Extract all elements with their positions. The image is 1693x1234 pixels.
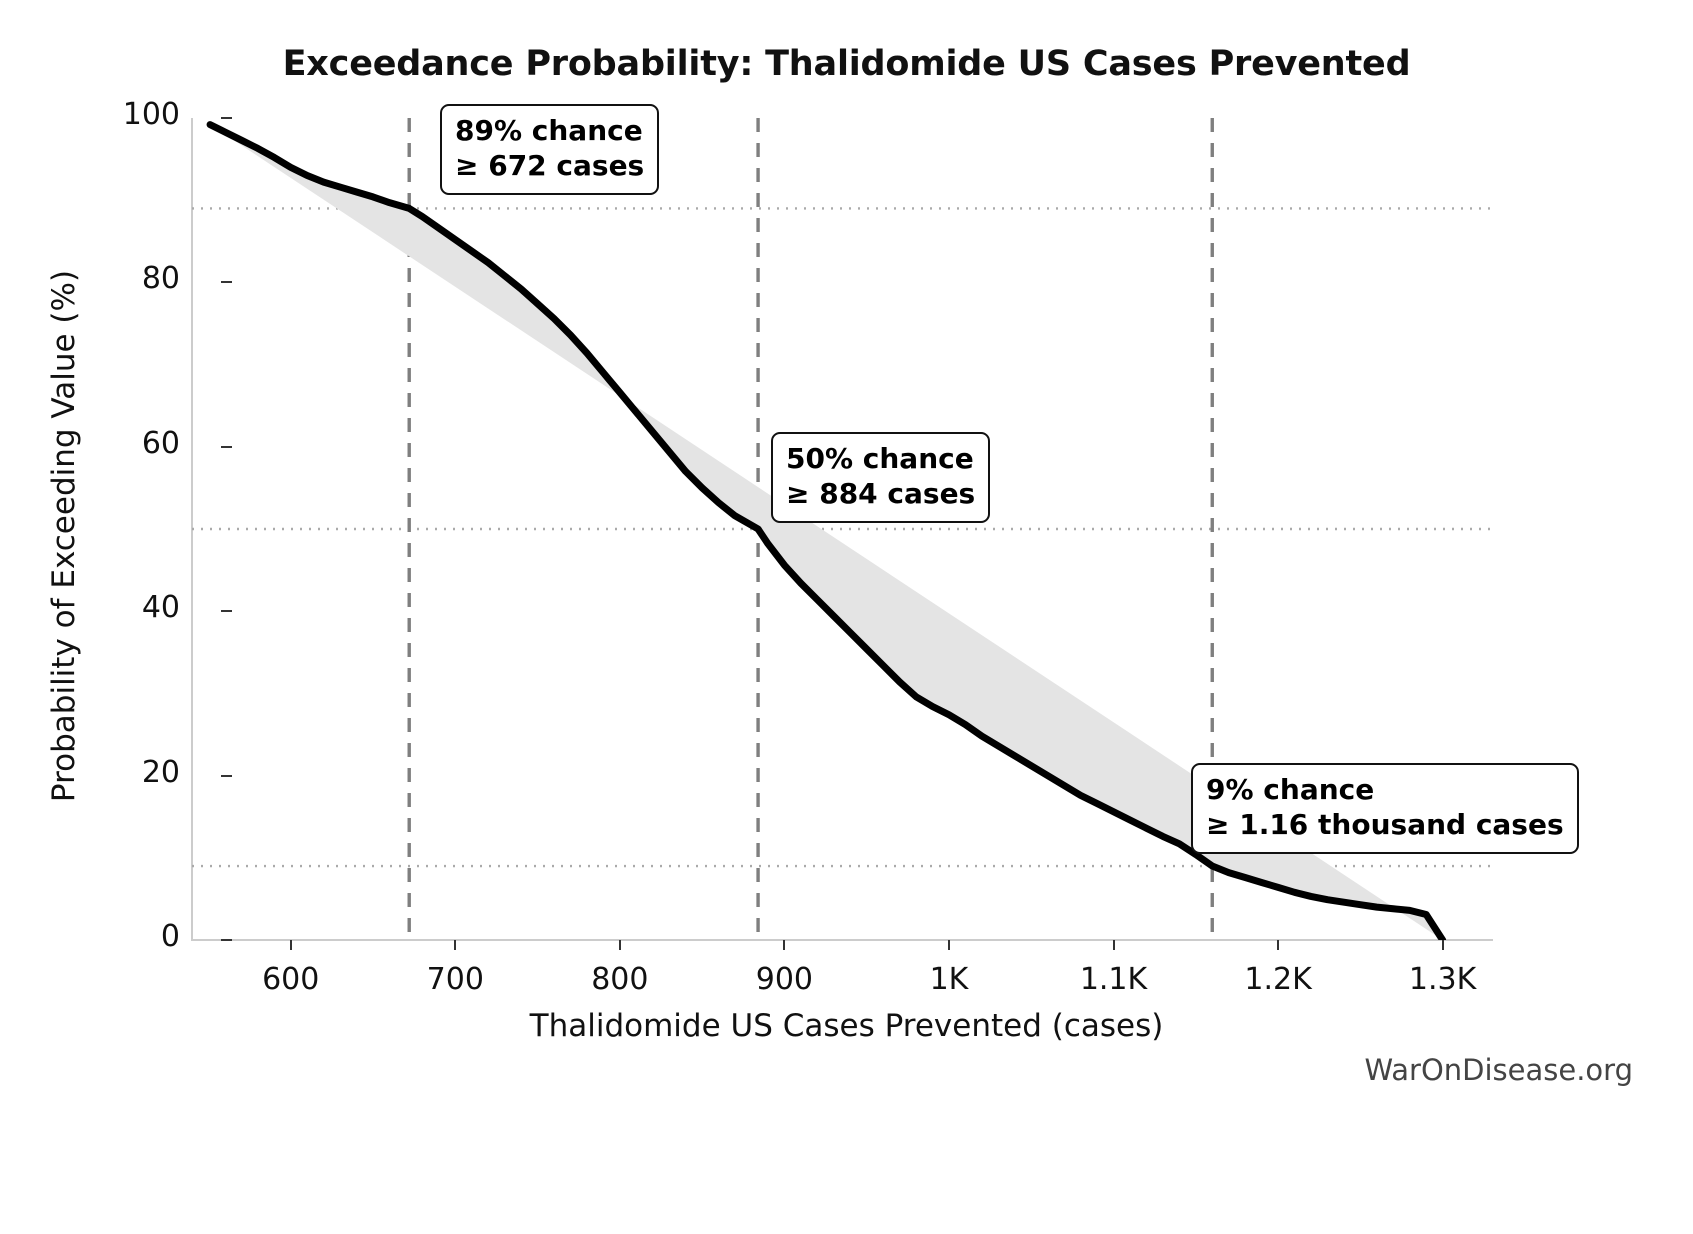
annotation-threshold-text: ≥ 884 cases [786,476,975,511]
x-tick-mark-900 [783,940,785,950]
x-axis-label: Thalidomide US Cases Prevented (cases) [0,1008,1693,1044]
x-tick-label-1.1K: 1.1K [1034,962,1194,997]
x-tick-mark-1.3K [1442,940,1444,950]
x-tick-mark-1.2K [1277,940,1279,950]
chart-page: Exceedance Probability: Thalidomide US C… [0,0,1693,1234]
x-tick-label-600: 600 [211,962,371,997]
y-tick-mark-0 [221,939,232,941]
y-tick-mark-100 [221,117,232,119]
x-tick-mark-600 [290,940,292,950]
annotation-9: 9% chance≥ 1.16 thousand cases [1191,763,1579,854]
x-tick-mark-700 [454,940,456,950]
y-tick-label-0: 0 [60,919,180,954]
x-tick-label-700: 700 [375,962,535,997]
y-tick-mark-20 [221,775,232,777]
x-tick-label-1.3K: 1.3K [1363,962,1523,997]
annotation-probability-text: 9% chance [1206,772,1564,807]
y-axis-label: Probability of Exceeding Value (%) [46,166,82,906]
x-tick-label-1K: 1K [869,962,1029,997]
annotation-probability-text: 89% chance [455,113,644,148]
annotation-threshold-text: ≥ 1.16 thousand cases [1206,807,1564,842]
x-tick-mark-1K [948,940,950,950]
annotation-89: 89% chance≥ 672 cases [440,104,659,195]
x-tick-mark-800 [619,940,621,950]
y-tick-label-100: 100 [60,97,180,132]
x-tick-label-800: 800 [540,962,700,997]
annotation-50: 50% chance≥ 884 cases [771,432,990,523]
x-tick-label-1.2K: 1.2K [1198,962,1358,997]
x-tick-label-900: 900 [704,962,864,997]
x-tick-mark-1.1K [1113,940,1115,950]
y-tick-mark-40 [221,610,232,612]
chart-title: Exceedance Probability: Thalidomide US C… [0,44,1693,84]
footer-credit: WarOnDisease.org [1364,1053,1633,1087]
annotation-probability-text: 50% chance [786,441,975,476]
y-tick-mark-60 [221,446,232,448]
y-tick-mark-80 [221,281,232,283]
annotation-threshold-text: ≥ 672 cases [455,148,644,183]
